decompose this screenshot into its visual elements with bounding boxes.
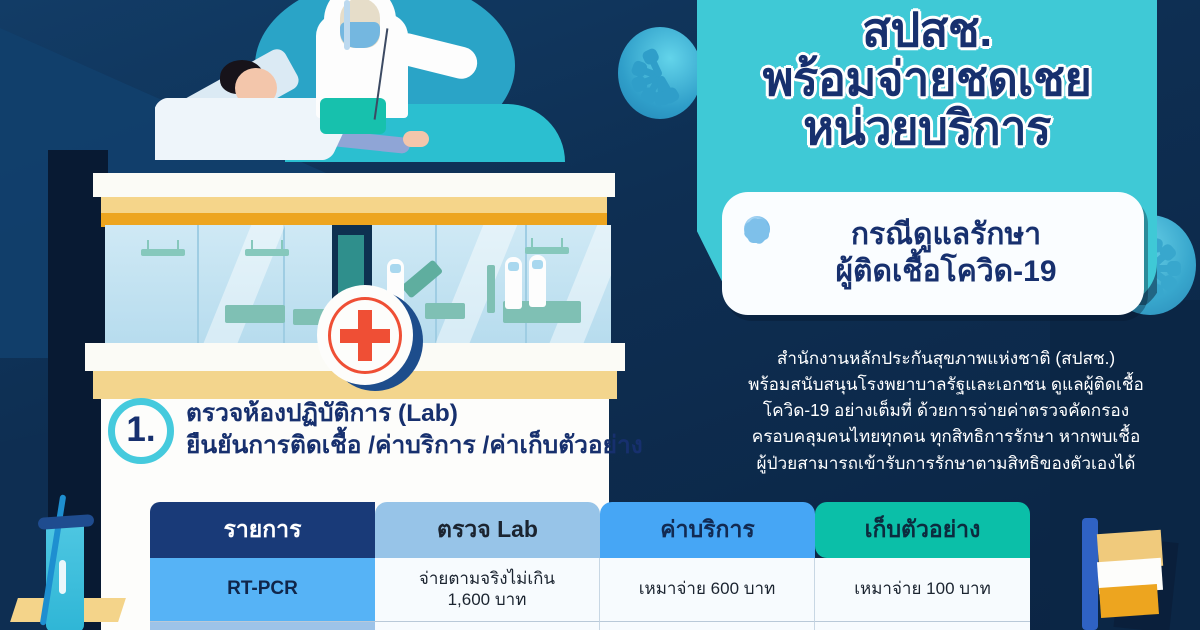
paragraph-line-2: พร้อมสนับสนุนโรงพยาบาลรัฐและเอกชน ดูแลผู… — [700, 371, 1192, 397]
staff-figure — [505, 257, 522, 309]
banner-title: สปสช. พร้อมจ่ายชดเชย หน่วยบริการ — [697, 6, 1157, 153]
table-header-service: ค่าบริการ — [600, 502, 815, 558]
step-heading-line-2: ยืนยันการติดเชื้อ /ค่าบริการ /ค่าเก็บตัว… — [186, 430, 666, 462]
cell-item: RT-PCR — [150, 558, 375, 622]
documents-illustration — [1000, 490, 1200, 630]
cell-lab-line-2: 1,600 บาท — [375, 590, 599, 610]
table-header-item: รายการ — [150, 502, 375, 558]
roof-cap — [93, 173, 615, 197]
paragraph-line-3: โควิด-19 อย่างเต็มที่ ด้วยการจ่ายค่าตรวจ… — [700, 397, 1192, 423]
paragraph-line-4: ครอบคลุมคนไทยทุกคน ทุกสิทธิการรักษา หากพ… — [700, 423, 1192, 449]
table-header-row: รายการ ตรวจ Lab ค่าบริการ เก็บตัวอย่าง — [150, 502, 1030, 558]
cell-service: เหมาจ่าย 600 บาท — [600, 558, 815, 622]
doctor-hood-strap — [344, 0, 350, 50]
banner-title-line-1: สปสช. — [697, 6, 1157, 55]
table-row: จ่ายตามจริงไม่เกิน — [150, 622, 1030, 630]
cell-lab-line-1: จ่ายตามจริงไม่เกิน — [375, 569, 599, 589]
cell-service — [600, 622, 815, 630]
body-paragraph: สำนักงานหลักประกันสุขภาพแห่งชาติ (สปสช.)… — [700, 345, 1192, 476]
paragraph-line-5: ผู้ป่วยสามารถเข้ารับการรักษาตามสิทธิของต… — [700, 450, 1192, 476]
step-1-heading: 1. ตรวจห้องปฏิบัติการ (Lab) ยืนยันการติด… — [108, 396, 668, 482]
medical-cross-icon — [317, 285, 423, 395]
benefits-table-wrapper: รายการ ตรวจ Lab ค่าบริการ เก็บตัวอย่าง R… — [150, 502, 1030, 630]
step-heading-text: ตรวจห้องปฏิบัติการ (Lab) ยืนยันการติดเชื… — [186, 398, 666, 463]
cell-lab: จ่ายตามจริงไม่เกิน — [375, 622, 600, 630]
banner-subtitle-line-1: กรณีดูแลรักษา — [835, 217, 1056, 254]
cell-sample — [815, 622, 1030, 630]
tube-cap — [38, 514, 95, 530]
swab-tip — [59, 560, 66, 594]
cell-item — [150, 622, 375, 630]
table-header-lab: ตรวจ Lab — [375, 502, 600, 558]
infographic-canvas: สปสช. พร้อมจ่ายชดเชย หน่วยบริการ กรณีดูแ… — [0, 0, 1200, 630]
cell-lab: จ่ายตามจริงไม่เกิน 1,600 บาท — [375, 558, 600, 622]
coronavirus-icon — [736, 208, 778, 250]
cell-sample: เหมาจ่าย 100 บาท — [815, 558, 1030, 622]
banner-title-line-2: พร้อมจ่ายชดเชย — [697, 55, 1157, 104]
table-header-sample: เก็บตัวอย่าง — [815, 502, 1030, 558]
step-number-badge: 1. — [108, 398, 174, 464]
table-row: RT-PCR จ่ายตามจริงไม่เกิน 1,600 บาท เหมา… — [150, 558, 1030, 622]
banner-subtitle-line-2: ผู้ติดเชื้อโควิด-19 — [835, 254, 1056, 291]
staff-figure — [529, 255, 546, 307]
banner-subtitle: กรณีดูแลรักษา ผู้ติดเชื้อโควิด-19 — [809, 217, 1056, 290]
paragraph-line-1: สำนักงานหลักประกันสุขภาพแห่งชาติ (สปสช.) — [700, 345, 1192, 371]
test-tube-swab-illustration — [20, 498, 112, 630]
doctor-ppe-illustration — [288, 0, 478, 134]
benefits-table: รายการ ตรวจ Lab ค่าบริการ เก็บตัวอย่าง R… — [150, 502, 1030, 630]
step-number: 1. — [126, 412, 155, 447]
banner-title-line-3: หน่วยบริการ — [697, 104, 1157, 153]
step-heading-line-1: ตรวจห้องปฏิบัติการ (Lab) — [186, 398, 666, 430]
subtitle-pill: กรณีดูแลรักษา ผู้ติดเชื้อโควิด-19 — [722, 192, 1144, 315]
